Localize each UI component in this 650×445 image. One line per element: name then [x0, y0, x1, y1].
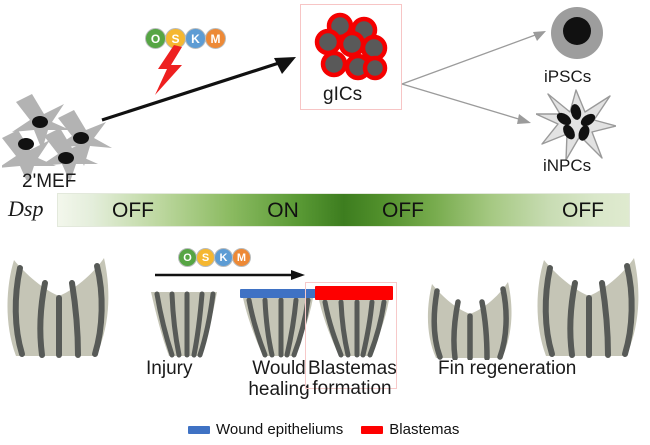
fish-fin-icon — [0, 252, 118, 359]
dsp-state-on: ON — [248, 194, 318, 228]
oskm-factor-group-bottom: O S K M — [178, 248, 250, 267]
legend: Wound epitheliums Blastemas — [188, 421, 459, 438]
fin-with-epithelium-icon — [237, 288, 319, 358]
source-cell-label: 2'MEF — [22, 172, 76, 193]
dsp-state-off-2: OFF — [358, 194, 448, 228]
fish-fin-icon-regen-mid — [420, 270, 520, 360]
round-stem-cell-icon — [546, 4, 608, 66]
inpc-label: iNPCs — [543, 157, 591, 175]
dsp-state-off-1: OFF — [88, 194, 178, 228]
dsp-state-off-3: OFF — [538, 194, 628, 228]
oskm-circle-k-bottom: K — [214, 248, 233, 267]
oskm-circle-m: M — [205, 28, 226, 49]
oskm-circle-s-bottom: S — [196, 248, 215, 267]
oskm-circle-m-bottom: M — [232, 248, 251, 267]
blastema-marker — [315, 286, 393, 300]
stage-label-regeneration: Fin regeneration — [438, 359, 576, 380]
gics-label: gICs — [323, 85, 362, 106]
regeneration-arrow-icon — [155, 268, 305, 280]
reprogramming-arrow-icon — [100, 52, 298, 124]
legend-item-wound-epitheliums: Wound epitheliums — [188, 421, 343, 438]
ipsc-label: iPSCs — [544, 68, 591, 86]
fin-with-blastema-icon — [313, 286, 395, 358]
legend-item-blastemas: Blastemas — [361, 421, 459, 438]
legend-label-wound-epitheliums: Wound epitheliums — [216, 421, 343, 438]
legend-swatch-red — [361, 426, 383, 434]
stage-label-injury: Injury — [146, 359, 192, 380]
figure-canvas: 2'MEF O S K M — [0, 0, 650, 445]
fish-fin-icon-regen-full — [530, 252, 648, 359]
stage-label-blastema: Blastemas formation — [308, 359, 396, 399]
oskm-circle-k: K — [185, 28, 206, 49]
legend-swatch-blue — [188, 426, 210, 434]
dsp-expression-bar: OFF ON OFF OFF — [57, 193, 630, 227]
cell-cluster-icon — [312, 12, 392, 84]
oskm-circle-o-bottom: O — [178, 248, 197, 267]
amputated-fin-icon — [145, 290, 223, 358]
wound-epithelium-marker — [240, 289, 316, 298]
stellate-neural-cell-icon — [536, 88, 616, 160]
fibroblast-cluster-icon — [2, 88, 114, 180]
legend-label-blastemas: Blastemas — [389, 421, 459, 438]
dsp-gene-label: Dsp — [8, 197, 43, 221]
